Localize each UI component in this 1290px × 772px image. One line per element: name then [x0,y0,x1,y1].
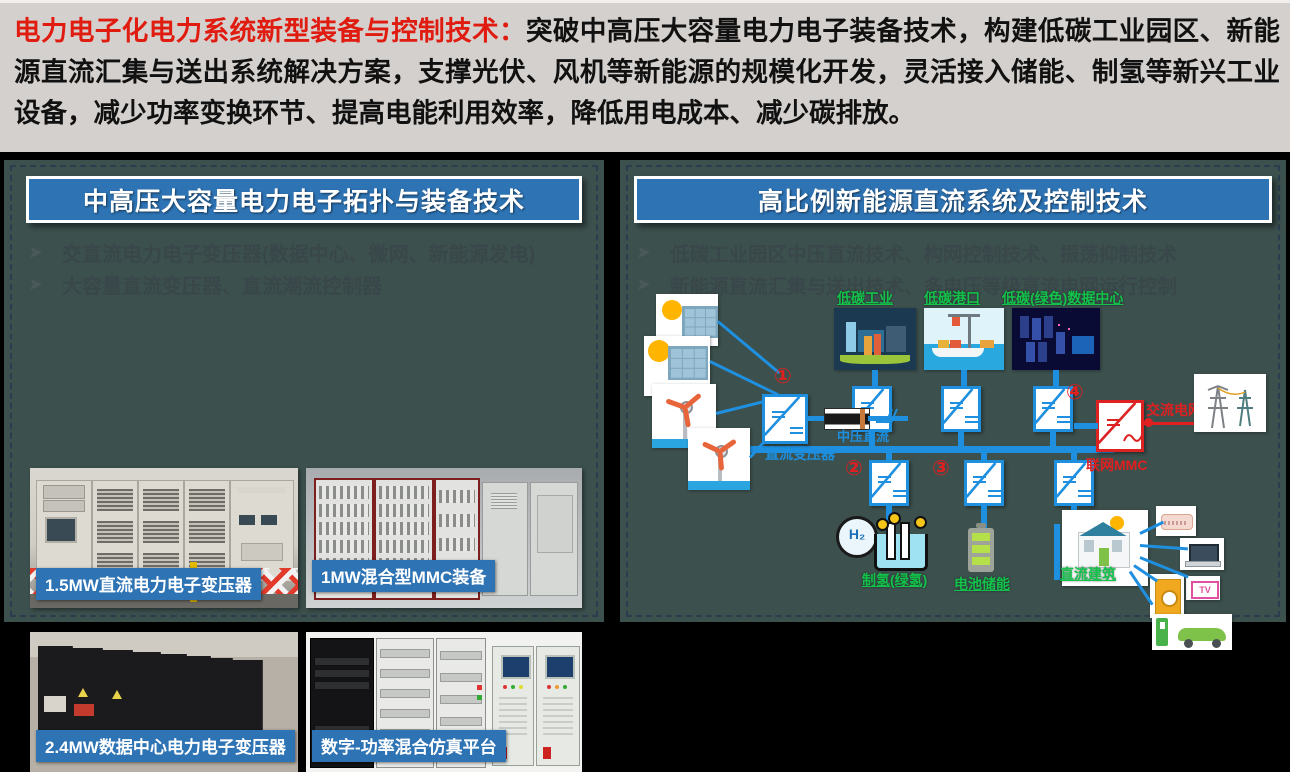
connector [961,370,967,386]
photo-dc-transformer: 1.5MW直流电力电子变压器 [30,468,298,608]
banner-highlight: 电力电子化电力系统新型装备与控制技术： [14,16,526,46]
slash-icon [964,460,998,500]
connector [1053,370,1059,386]
slash-icon [941,386,975,426]
control-cabinet [536,646,580,766]
cabinet [36,480,92,582]
bullet-item: ➤ 低碳工业园区中压直流技术、构网控制技术、振荡抑制技术 [636,236,1272,268]
mmc-converter-icon [1096,400,1144,452]
left-panel-bullets: ➤ 交直流电力电子变压器(数据中心、微网、新能源发电) ➤ 大容量直流变压器、直… [28,236,590,300]
cabinet [230,480,294,582]
photo-datacenter-transformer: 2.4MW数据中心电力电子变压器 [30,632,298,772]
bullet-arrow-icon: ➤ [636,242,670,263]
ac-wave-icon [1123,431,1143,445]
slash-icon [1033,386,1067,426]
left-panel-header: 中高压大容量电力电子拓扑与装备技术 [26,176,582,223]
callout-1: ① [774,364,792,389]
label-dc-transformer: 直流变压器 [765,447,811,462]
connector [872,370,878,386]
bullet-item: ➤ 大容量直流变压器、直流潮流控制器 [28,268,590,300]
right-panel-title: 高比例新能源直流系统及控制技术 [758,182,1148,218]
photo-caption: 1.5MW直流电力电子变压器 [36,568,261,600]
label-mv-dc: 中压直流 [837,426,889,445]
label-low-carbon-port: 低碳港口 [924,288,980,308]
converter-icon [964,460,1004,506]
connector [886,446,892,462]
photo-caption: 1MW混合型MMC装备 [312,560,495,592]
photo-caption: 数字-功率混合仿真平台 [312,730,506,762]
label-mmc: 联网MMC [1086,455,1147,475]
open-door [232,660,263,736]
converter-icon [869,460,909,506]
slash-icon [1054,460,1088,500]
image-port [924,308,1004,370]
label-dc-building: 直流建筑 [1060,564,1116,584]
left-panel-title: 中高压大容量电力电子拓扑与装备技术 [83,182,525,218]
break-marks-icon [884,407,898,425]
callout-2: ② [845,456,863,481]
image-industry [834,308,916,370]
cabinet [186,656,211,740]
converter-icon [941,386,981,432]
bullet-text: 大容量直流变压器、直流潮流控制器 [62,270,382,299]
image-tv: TV [1186,576,1220,600]
battery-icon [968,528,994,572]
pylon-icon [1194,374,1266,432]
image-ev-charging [1152,614,1232,650]
label-hydrogen: 制氢(绿氢) [862,570,927,590]
slash-icon [869,460,903,500]
hmi-screen [501,655,531,679]
connector [1071,446,1077,462]
cabinet [160,654,187,742]
cabinet [138,480,184,582]
connector [717,320,780,374]
bullet-text: 交直流电力电子变压器(数据中心、微网、新能源发电) [62,238,535,267]
dc-transformer-icon [762,394,808,444]
electrolyser-icon [870,516,926,568]
bullet-arrow-icon: ➤ [28,274,62,295]
bullet-item: ➤ 交直流电力电子变压器(数据中心、微网、新能源发电) [28,236,590,268]
photo-mmc-equipment: 1MW混合型MMC装备 [306,468,582,608]
image-wind-2 [688,428,750,490]
cabinet [210,658,233,738]
bullet-arrow-icon: ➤ [28,242,62,263]
banner-inner: 电力电子化电力系统新型装备与控制技术：突破中高压大容量电力电子装备技术，构建低碳… [14,11,1280,134]
photo-caption: 2.4MW数据中心电力电子变压器 [36,730,295,762]
top-banner: 电力电子化电力系统新型装备与控制技术：突破中高压大容量电力电子装备技术，构建低碳… [0,0,1290,152]
connector [1074,423,1098,429]
hmi-screen [545,655,575,679]
slide-root: 电力电子化电力系统新型装备与控制技术：突破中高压大容量电力电子装备技术，构建低碳… [0,0,1290,628]
image-transmission-towers [1194,374,1266,432]
photo-simulation-platform: 数字-功率混合仿真平台 [306,632,582,772]
cabinet [92,480,138,582]
callout-4: ④ [1066,380,1084,405]
right-panel: 高比例新能源直流系统及控制技术 ➤ 低碳工业园区中压直流技术、构网控制技术、振荡… [620,160,1286,622]
image-laptop [1180,538,1224,570]
label-low-carbon-datacenter: 低碳(绿色)数据中心 [1002,288,1123,308]
label-low-carbon-industry: 低碳工业 [837,288,893,308]
system-diagram: 低碳工业 低碳港口 低碳(绿色)数据中心 [634,288,1272,612]
content-stage: 中高压大容量电力电子拓扑与装备技术 ➤ 交直流电力电子变压器(数据中心、微网、新… [0,152,1290,628]
banner-text: 电力电子化电力系统新型装备与控制技术：突破中高压大容量电力电子装备技术，构建低碳… [14,11,1280,134]
bullet-text: 低碳工业园区中压直流技术、构网控制技术、振荡抑制技术 [670,238,1177,267]
tv-label: TV [1191,581,1219,599]
label-battery-storage: 电池储能 [954,574,1010,594]
left-panel: 中高压大容量电力电子拓扑与装备技术 ➤ 交直流电力电子变压器(数据中心、微网、新… [4,160,604,622]
image-datacenter [1012,308,1100,370]
connector [981,446,987,462]
callout-3: ③ [932,456,950,481]
connector [808,416,824,421]
cabinet-door [530,482,578,596]
right-panel-header: 高比例新能源直流系统及控制技术 [634,176,1272,223]
